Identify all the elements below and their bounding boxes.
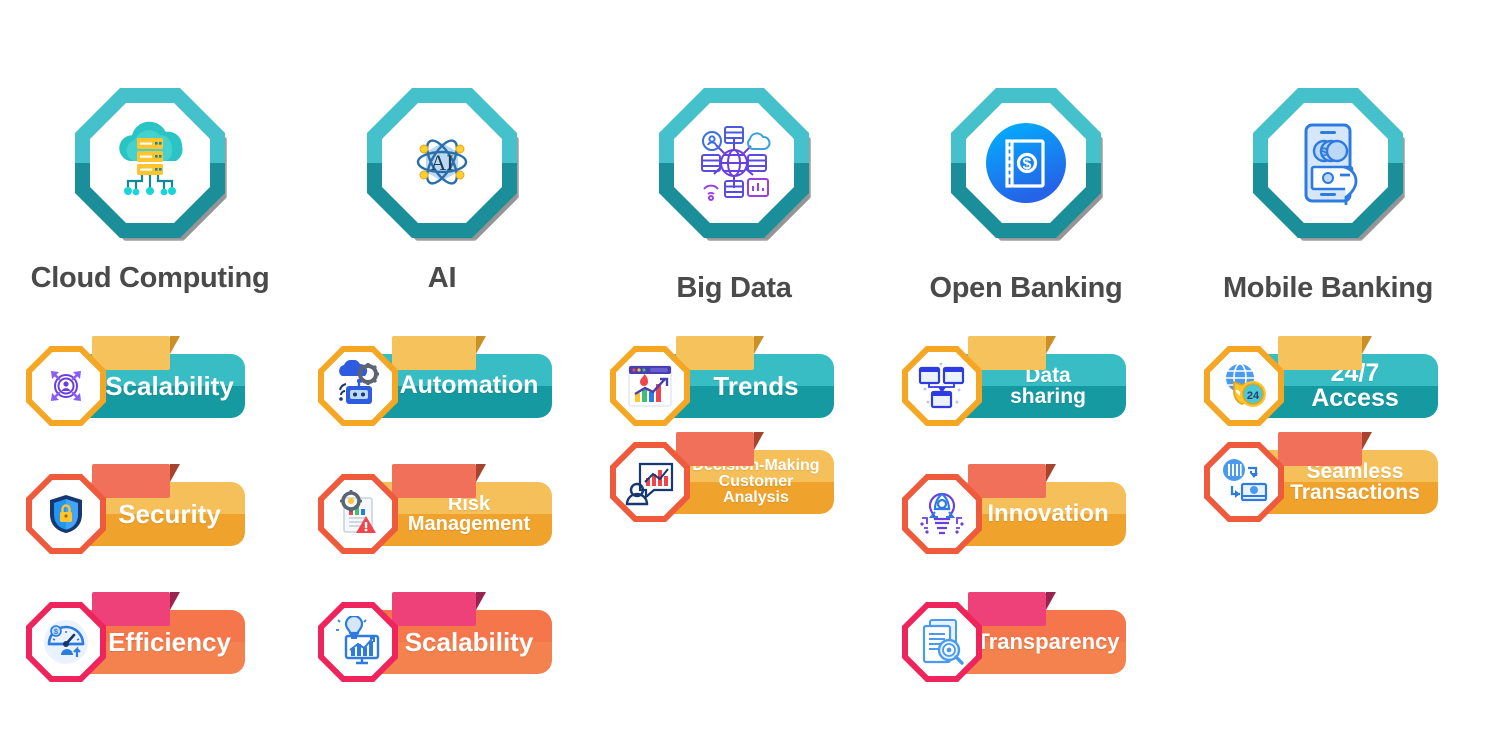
column-title-ai: AI	[292, 262, 592, 295]
svg-text:$: $	[1023, 156, 1032, 173]
header-badge-mobile-banking[interactable]: $	[1253, 88, 1403, 238]
column-big-data: Big DataTrends Decision-Making Customer …	[584, 0, 884, 750]
data-sharing-icon	[908, 352, 976, 420]
document-search-icon	[908, 608, 976, 676]
feature-row[interactable]: 24/7 Access 24	[1178, 332, 1478, 428]
column-open-banking: $ Open BankingData sharing Innovation Tr…	[876, 0, 1176, 750]
tab-fold	[170, 464, 180, 482]
feature-row[interactable]: Decision-Making Customer Analysis	[584, 428, 884, 524]
svg-text:$: $	[1321, 145, 1328, 159]
feature-row[interactable]: Efficiency $	[0, 588, 300, 684]
header-badge-ai[interactable]: AI	[367, 88, 517, 238]
column-title-mobile-banking: Mobile Banking	[1178, 272, 1478, 305]
feature-tab	[392, 336, 476, 370]
scalability-target-icon	[32, 352, 100, 420]
svg-text:$: $	[54, 629, 58, 636]
column-mobile-banking: $ Mobile Banking24/7 Access 24 Seamless …	[1178, 0, 1478, 750]
svg-text:AI: AI	[430, 150, 453, 175]
feature-row[interactable]: Trends	[584, 332, 884, 428]
tab-fold	[170, 592, 180, 610]
column-title-open-banking: Open Banking	[876, 272, 1176, 305]
feature-badge[interactable]	[318, 346, 398, 426]
tab-fold	[1362, 432, 1372, 450]
feature-badge[interactable]	[26, 474, 106, 554]
feature-row[interactable]: Innovation	[876, 460, 1176, 556]
feature-badge[interactable]	[26, 346, 106, 426]
tab-fold	[754, 336, 764, 354]
rocket-bulb-icon	[908, 480, 976, 548]
mobile-payment-icon: $	[1268, 103, 1388, 223]
trend-chart-icon	[616, 352, 684, 420]
feature-label: Data sharing	[964, 365, 1098, 408]
network-globe-icon	[674, 103, 794, 223]
feature-row[interactable]: Scalability	[292, 588, 592, 684]
header-badge-cloud-computing[interactable]	[75, 88, 225, 238]
feature-badge[interactable]	[1204, 442, 1284, 522]
feature-tab	[1278, 336, 1362, 370]
feature-row[interactable]: Scalability	[0, 332, 300, 428]
feature-tab	[392, 592, 476, 626]
feature-badge[interactable]	[318, 602, 398, 682]
tab-fold	[476, 592, 486, 610]
risk-warning-icon	[324, 480, 392, 548]
feature-row[interactable]: Transparency	[876, 588, 1176, 684]
feature-row[interactable]: Risk Management	[292, 460, 592, 556]
feature-row[interactable]: Seamless Transactions	[1178, 428, 1478, 524]
feature-badge[interactable]: 24	[1204, 346, 1284, 426]
bulb-chart-icon	[324, 608, 392, 676]
shield-lock-icon	[32, 480, 100, 548]
feature-tab	[392, 464, 476, 498]
feature-row[interactable]: Automation	[292, 332, 592, 428]
feature-badge[interactable]	[902, 602, 982, 682]
tab-fold	[476, 336, 486, 354]
feature-tab	[1278, 432, 1362, 466]
feature-badge[interactable]: $	[26, 602, 106, 682]
feature-row[interactable]: Security	[0, 460, 300, 556]
cloud-server-icon	[90, 103, 210, 223]
tab-fold	[476, 464, 486, 482]
tab-fold	[1046, 336, 1056, 354]
feature-badge[interactable]	[318, 474, 398, 554]
bank-book-icon: $	[966, 103, 1086, 223]
atom-ai-icon: AI	[382, 103, 502, 223]
column-title-big-data: Big Data	[584, 272, 884, 305]
header-badge-open-banking[interactable]: $	[951, 88, 1101, 238]
svg-text:24: 24	[1247, 390, 1260, 402]
tab-fold	[1046, 464, 1056, 482]
infographic-canvas: Cloud ComputingScalability Security Effi…	[0, 0, 1500, 750]
column-ai: AI AIAutomation Risk Management Scalabil…	[292, 0, 592, 750]
column-title-cloud-computing: Cloud Computing	[0, 262, 300, 295]
feature-badge[interactable]	[610, 346, 690, 426]
feature-badge[interactable]	[902, 474, 982, 554]
feature-badge[interactable]	[610, 442, 690, 522]
tab-fold	[1046, 592, 1056, 610]
tab-fold	[170, 336, 180, 354]
tab-fold	[1362, 336, 1372, 354]
speed-gauge-icon: $	[32, 608, 100, 676]
robot-gear-icon	[324, 352, 392, 420]
header-badge-big-data[interactable]	[659, 88, 809, 238]
tab-fold	[754, 432, 764, 450]
feature-badge[interactable]	[902, 346, 982, 426]
column-cloud-computing: Cloud ComputingScalability Security Effi…	[0, 0, 300, 750]
analysis-user-icon	[616, 448, 684, 516]
feature-row[interactable]: Data sharing	[876, 332, 1176, 428]
